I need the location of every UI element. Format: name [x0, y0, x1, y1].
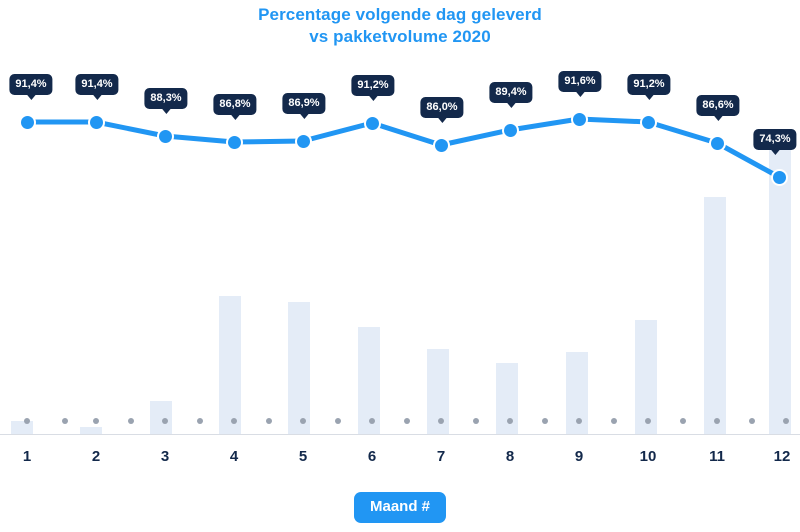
axis-dot-13 — [438, 418, 444, 424]
chart-title-line-2: vs pakketvolume 2020 — [0, 26, 800, 48]
x-tick-10: 10 — [640, 448, 657, 465]
axis-dot-6 — [197, 418, 203, 424]
axis-dot-23 — [783, 418, 789, 424]
x-tick-11: 11 — [709, 448, 725, 465]
axis-dot-5 — [162, 418, 168, 424]
axis-dot-8 — [266, 418, 272, 424]
axis-dot-10 — [335, 418, 341, 424]
x-tick-9: 9 — [575, 448, 583, 465]
x-tick-4: 4 — [230, 448, 238, 465]
axis-dot-19 — [645, 418, 651, 424]
x-tick-1: 1 — [23, 448, 31, 465]
x-axis-tick-labels: 1 2 3 4 5 6 7 8 9 10 11 12 — [0, 448, 800, 472]
axis-dot-1 — [24, 418, 30, 424]
axis-dot-17 — [576, 418, 582, 424]
x-axis-title-container: Maand # — [0, 492, 800, 523]
axis-dot-4 — [128, 418, 134, 424]
chart-title: Percentage volgende dag geleverd vs pakk… — [0, 4, 800, 48]
axis-dots — [0, 60, 800, 435]
chart-title-line-1: Percentage volgende dag geleverd — [0, 4, 800, 26]
chart-page: Percentage volgende dag geleverd vs pakk… — [0, 0, 800, 532]
x-tick-5: 5 — [299, 448, 307, 465]
axis-dot-9 — [300, 418, 306, 424]
axis-dot-2 — [62, 418, 68, 424]
axis-dot-21 — [714, 418, 720, 424]
x-tick-7: 7 — [437, 448, 445, 465]
x-tick-2: 2 — [92, 448, 100, 465]
axis-dot-15 — [507, 418, 513, 424]
axis-dot-18 — [611, 418, 617, 424]
x-tick-3: 3 — [161, 448, 169, 465]
axis-dot-12 — [404, 418, 410, 424]
x-axis-title: Maand # — [354, 492, 446, 523]
axis-dot-16 — [542, 418, 548, 424]
x-tick-8: 8 — [506, 448, 514, 465]
axis-dot-14 — [473, 418, 479, 424]
axis-dot-3 — [93, 418, 99, 424]
axis-dot-20 — [680, 418, 686, 424]
axis-dot-7 — [231, 418, 237, 424]
axis-dot-11 — [369, 418, 375, 424]
x-tick-12: 12 — [774, 448, 791, 465]
x-tick-6: 6 — [368, 448, 376, 465]
axis-dot-22 — [749, 418, 755, 424]
plot-area: 91,4% 91,4% 88,3% 86,8% 86,9% 91,2% 86,0… — [0, 60, 800, 435]
